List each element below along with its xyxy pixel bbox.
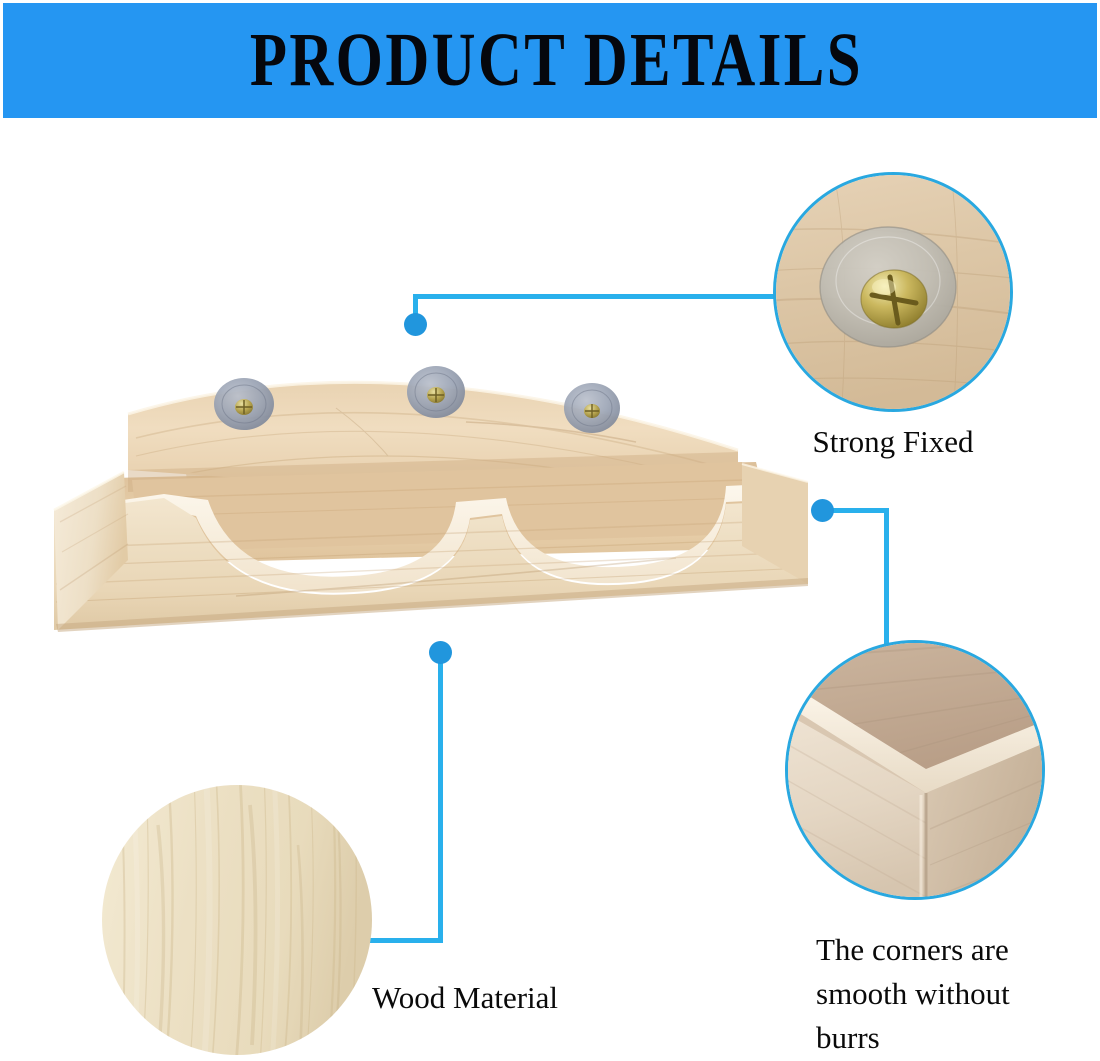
callout-label-strong-fixed: Strong Fixed bbox=[773, 422, 1013, 462]
callout-label-corners-line1: The corners are bbox=[816, 932, 1009, 967]
callout-image-corners bbox=[785, 640, 1045, 900]
callout-label-corners-line2: smooth without bbox=[816, 976, 1010, 1011]
callout-label-corners-line3: burrs bbox=[816, 1020, 880, 1055]
header-banner: PRODUCT DETAILS bbox=[3, 3, 1097, 118]
page-title: PRODUCT DETAILS bbox=[112, 3, 987, 118]
connector-dot-strong-fixed bbox=[404, 313, 427, 336]
callout-label-wood-material: Wood Material bbox=[372, 978, 558, 1018]
connector-line-wood-horizontal bbox=[368, 938, 443, 943]
connector-line-corners-horizontal bbox=[833, 508, 889, 513]
connector-dot-wood bbox=[429, 641, 452, 664]
callout-image-strong-fixed bbox=[773, 172, 1013, 412]
callout-image-wood-material bbox=[102, 785, 372, 1055]
connector-line-strong-fixed-horizontal bbox=[415, 294, 775, 299]
product-photo bbox=[36, 352, 826, 642]
connector-dot-corners bbox=[811, 499, 834, 522]
connector-line-wood-vertical bbox=[438, 655, 443, 943]
callout-label-corners: The corners are smooth without burrs bbox=[816, 928, 1086, 1060]
connector-line-corners-vertical bbox=[884, 508, 889, 646]
